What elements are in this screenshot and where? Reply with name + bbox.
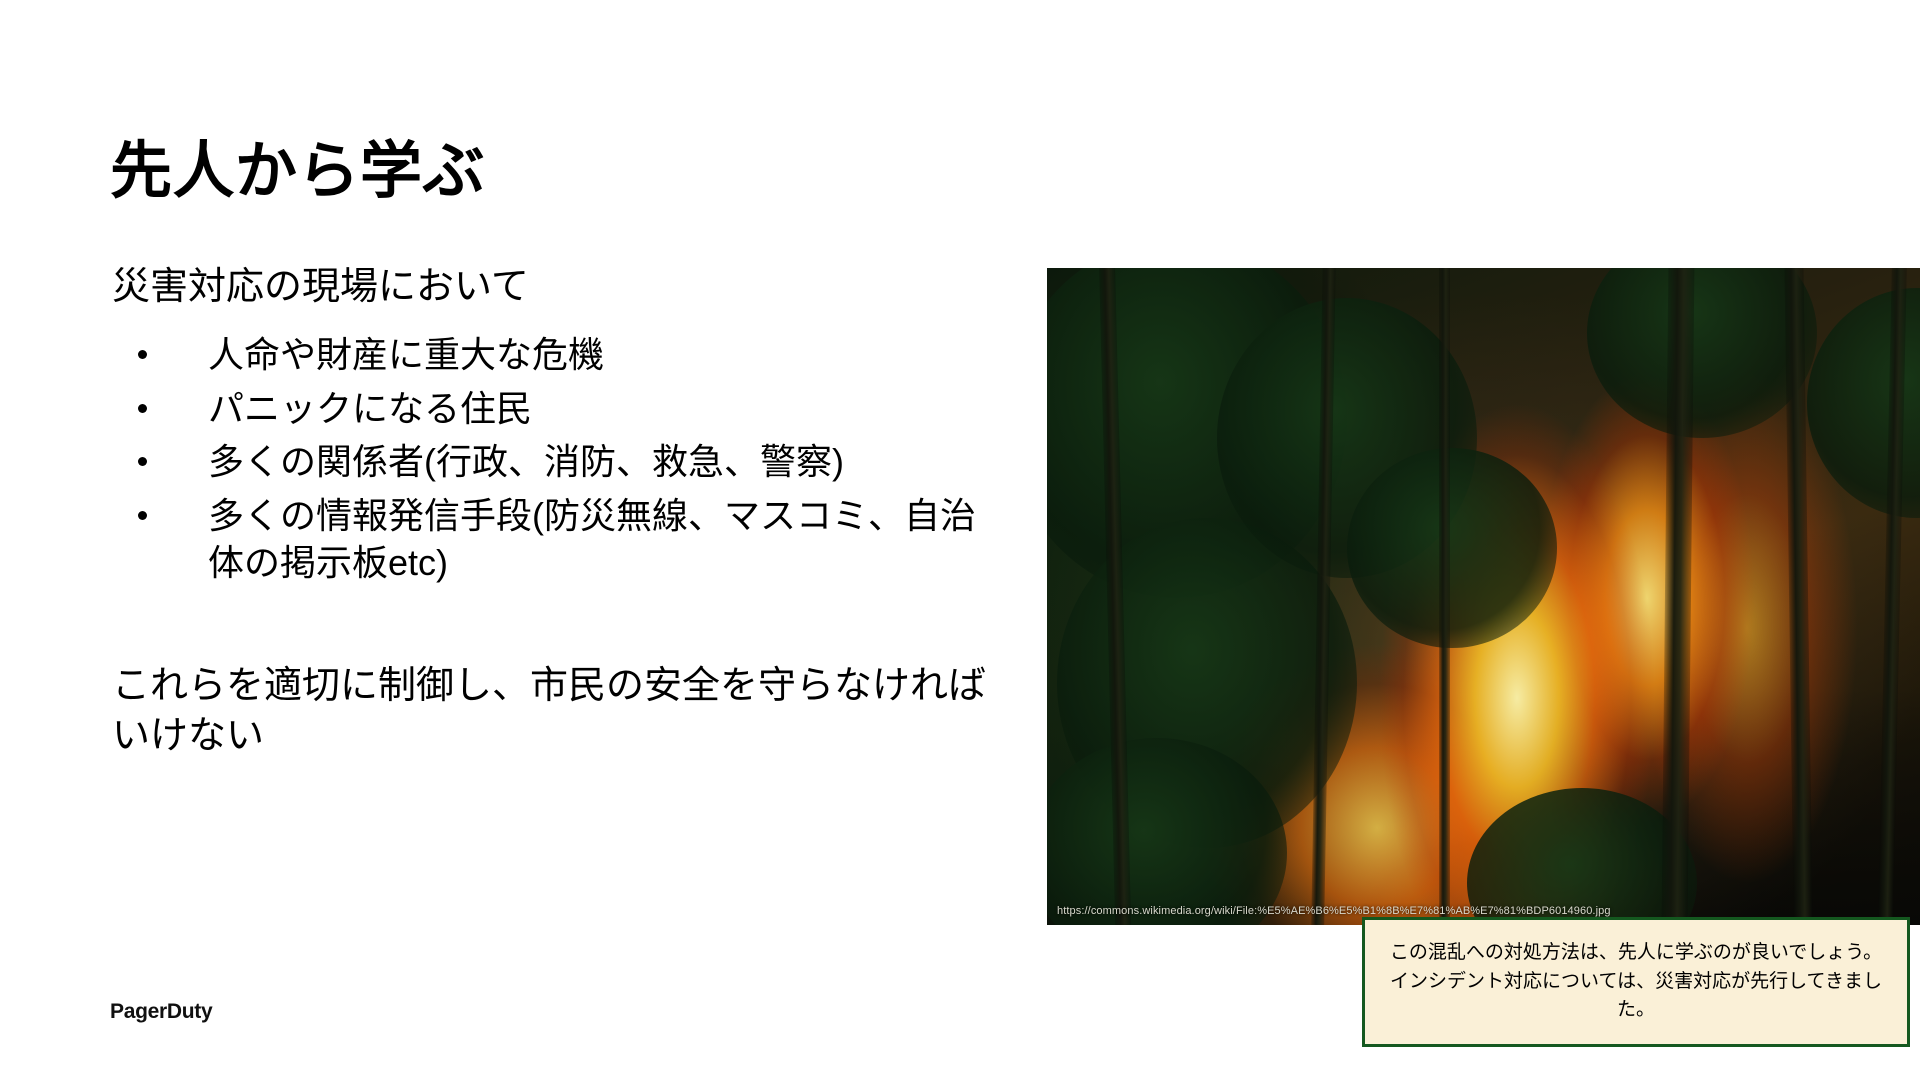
- slide-body-column: 災害対応の現場において 人命や財産に重大な危機 パニックになる住民 多くの関係者…: [112, 262, 1042, 799]
- bullet-text: 多くの関係者(行政、消防、救急、警察): [208, 441, 844, 482]
- bullet-dot-icon: [138, 404, 147, 413]
- tree-canopy: [1587, 268, 1817, 438]
- slide-canvas: 先人から学ぶ 災害対応の現場において 人命や財産に重大な危機 パニックになる住民…: [0, 0, 1920, 1080]
- speaker-note-text: この混乱への対処方法は、先人に学ぶのが良いでしょう。インシデント対応については、…: [1387, 939, 1885, 1026]
- list-item: 人命や財産に重大な危機: [112, 331, 1042, 379]
- speaker-note-callout: この混乱への対処方法は、先人に学ぶのが良いでしょう。インシデント対応については、…: [1362, 917, 1910, 1047]
- tree-trunk: [1662, 268, 1695, 925]
- bullet-dot-icon: [138, 350, 147, 359]
- lead-line: 災害対応の現場において: [112, 262, 1042, 313]
- photo-source-url[interactable]: https://commons.wikimedia.org/wiki/File:…: [1057, 905, 1611, 917]
- bullet-text: 多くの情報発信手段(防災無線、マスコミ、自治: [208, 495, 976, 536]
- tree-canopy: [1347, 448, 1557, 648]
- list-item: 多くの情報発信手段(防災無線、マスコミ、自治 体の掲示板etc): [112, 492, 1042, 587]
- bullet-text: パニックになる住民: [208, 388, 532, 429]
- bullet-text: 人命や財産に重大な危機: [208, 334, 604, 375]
- closing-line-2: いけない: [112, 711, 1042, 761]
- pagerduty-logo: PagerDuty: [110, 1000, 212, 1024]
- closing-line-1: これらを適切に制御し、市民の安全を守らなければ: [112, 665, 986, 707]
- bullet-text-wrap: 体の掲示板etc): [208, 539, 1042, 587]
- bullet-dot-icon: [138, 457, 147, 466]
- bullet-list: 人命や財産に重大な危機 パニックになる住民 多くの関係者(行政、消防、救急、警察…: [112, 331, 1042, 587]
- closing-paragraph: これらを適切に制御し、市民の安全を守らなければ いけない: [112, 661, 1042, 761]
- slide-photo: https://commons.wikimedia.org/wiki/File:…: [1047, 268, 1920, 925]
- list-item: パニックになる住民: [112, 385, 1042, 433]
- fire-photograph: [1047, 268, 1920, 925]
- tree-trunk: [1439, 268, 1450, 925]
- list-item: 多くの関係者(行政、消防、救急、警察): [112, 438, 1042, 486]
- bullet-dot-icon: [138, 511, 147, 520]
- page-title: 先人から学ぶ: [110, 138, 485, 206]
